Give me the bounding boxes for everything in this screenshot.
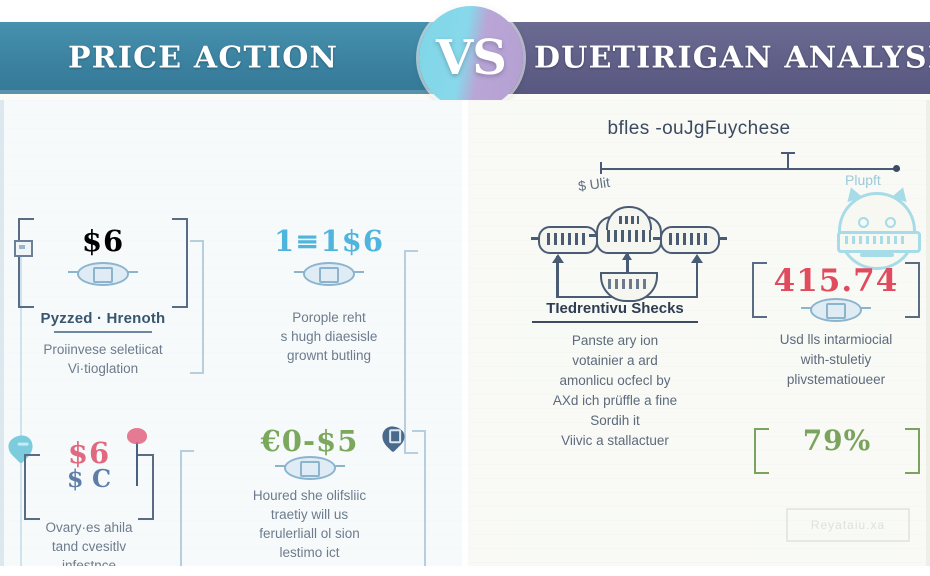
percent-value: 79% <box>754 424 920 457</box>
left-card-1: $6 Pyzzed · Hrenoth Proiinvese seletiica… <box>18 218 188 378</box>
decorative-bracket <box>412 430 426 576</box>
arrow-head-right <box>691 254 703 263</box>
right-title: DUETIRIGAN ANALYSNE <box>534 41 930 76</box>
right-card-1: TIedrentivu Shecks Panste ary ion votain… <box>500 300 730 451</box>
card-figure: €0-$5 <box>232 424 387 458</box>
card-subfigure: $ C <box>24 464 154 493</box>
left-panel: $6 Pyzzed · Hrenoth Proiinvese seletiica… <box>4 100 462 576</box>
card-heading: Pyzzed · Hrenoth <box>18 310 188 327</box>
card-body: Porople reht s hugh diaesisle grownt but… <box>249 308 409 365</box>
left-card-3: $6 $ C Ovary·es ahila tand cvesitlv infe… <box>24 430 154 575</box>
bracket-frame: €0-$5 <box>232 418 387 490</box>
robot-mouth <box>860 253 894 257</box>
money-bill-icon <box>284 456 336 480</box>
card-figure: $6 <box>18 224 188 258</box>
robot-grill <box>837 231 921 253</box>
infographic-canvas: PRICE ACTION DUETIRIGAN ANALYSNE VS $6 <box>0 0 930 576</box>
bracket-frame: $6 <box>18 218 188 304</box>
bank-icon <box>538 226 598 254</box>
money-bill-icon <box>303 262 355 286</box>
card-body: Panste ary ion votainier a ard amonlicu … <box>500 331 730 451</box>
right-card-2: Usd lls intarmiocial with-stuletiy plivs… <box>742 330 930 390</box>
left-card-4: €0-$5 Houred she olifsliic traetiy will … <box>232 418 387 562</box>
heading-underline <box>532 321 698 323</box>
chart-square-icon <box>14 240 33 257</box>
diagram-connector-stem <box>787 152 789 170</box>
vs-badge: VS <box>419 6 523 110</box>
rose-pin-icon <box>136 442 138 486</box>
node-right-label: Plupft <box>845 172 881 188</box>
bank-icon <box>660 226 720 254</box>
percent-figure-frame: 79% <box>754 424 920 474</box>
bracket-frame: $6 $ C <box>24 430 154 516</box>
header-left-banner: PRICE ACTION <box>0 22 470 94</box>
card-body: Proiinvese seletiicat Vi·tioglation <box>18 340 188 378</box>
header-right-banner: DUETIRIGAN ANALYSNE <box>470 22 930 94</box>
card-heading: TIedrentivu Shecks <box>500 300 730 317</box>
card-body: Houred she olifsliic traetiy will us fer… <box>232 486 387 562</box>
robot-icon <box>838 192 916 270</box>
arrow-head-left <box>552 254 564 263</box>
right-figure-frame: 415.74 <box>752 262 920 314</box>
robot-eye-right <box>885 217 896 228</box>
money-bill-icon <box>810 298 862 322</box>
watermark: Reyataiu.xa <box>786 508 910 542</box>
money-bill-icon <box>77 262 129 286</box>
bottom-white-strip <box>0 566 930 576</box>
left-card-2: 1≡1$6 Porople reht s hugh diaesisle grow… <box>249 218 409 365</box>
left-title: PRICE ACTION <box>68 41 338 76</box>
robot-eye-left <box>858 217 869 228</box>
heading-underline <box>54 331 153 333</box>
diagram-connector-bar <box>600 168 900 170</box>
decorative-bracket <box>190 240 204 374</box>
vs-label: VS <box>436 30 506 86</box>
decorative-bracket <box>180 450 194 576</box>
diagram-title: bfles -ouJgFuychese <box>468 118 930 140</box>
card-figure: 1≡1$6 <box>249 224 409 258</box>
right-figure-value: 415.74 <box>752 263 920 299</box>
card-body: Usd lls intarmiocial with-stuletiy plivs… <box>742 330 930 390</box>
basket-arrow <box>626 252 629 272</box>
bracket-frame: 1≡1$6 <box>249 218 409 304</box>
